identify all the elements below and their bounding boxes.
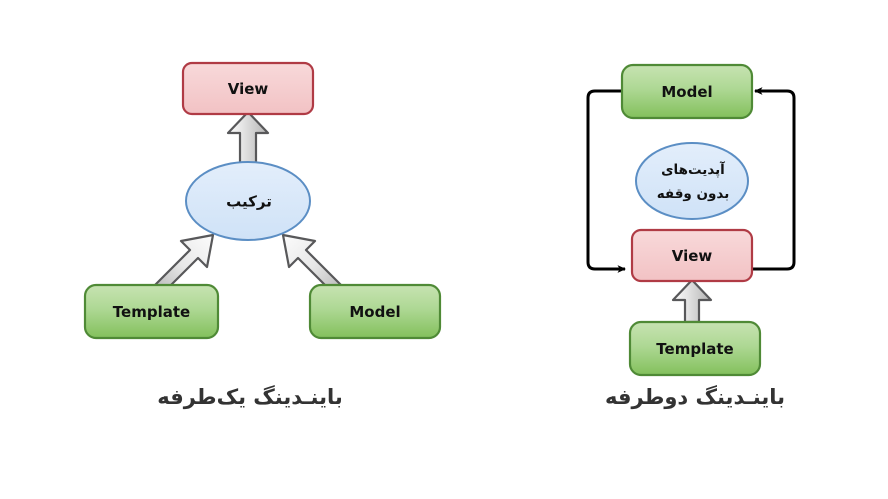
- node-left-view-label: View: [228, 80, 269, 98]
- node-right-template[interactable]: Template: [630, 322, 760, 375]
- node-left-combine[interactable]: ترکیب: [186, 162, 310, 240]
- node-left-model[interactable]: Model: [310, 285, 440, 338]
- node-left-template[interactable]: Template: [85, 285, 218, 338]
- node-right-view[interactable]: View: [632, 230, 752, 281]
- arrow-right-view-to-model: [752, 91, 794, 269]
- arrow-right-model-to-view: [588, 91, 625, 269]
- node-left-model-label: Model: [349, 303, 400, 321]
- node-right-updates-label-line2: بدون وقفه: [657, 186, 730, 202]
- node-right-model[interactable]: Model: [622, 65, 752, 118]
- node-left-template-label: Template: [113, 303, 190, 321]
- caption-one-way-binding: باینـدینگ یک‌طرفه: [90, 385, 410, 409]
- arrow-right-template-to-view: [673, 280, 711, 322]
- diagram-svg: View ترکیب Template Model: [0, 0, 888, 499]
- node-left-view[interactable]: View: [183, 63, 313, 114]
- node-right-updates[interactable]: آپدیت‌های بدون وقفه: [636, 143, 748, 219]
- diagram-canvas: View ترکیب Template Model: [0, 0, 888, 499]
- node-right-view-label: View: [672, 247, 713, 265]
- arrow-combine-to-view: [228, 112, 268, 168]
- node-right-updates-label-line1: آپدیت‌های: [661, 161, 725, 178]
- node-right-template-label: Template: [656, 340, 733, 358]
- caption-two-way-binding: باینـدینگ دوطرفه: [535, 385, 855, 409]
- node-right-model-label: Model: [661, 83, 712, 101]
- node-left-combine-label: ترکیب: [226, 193, 272, 211]
